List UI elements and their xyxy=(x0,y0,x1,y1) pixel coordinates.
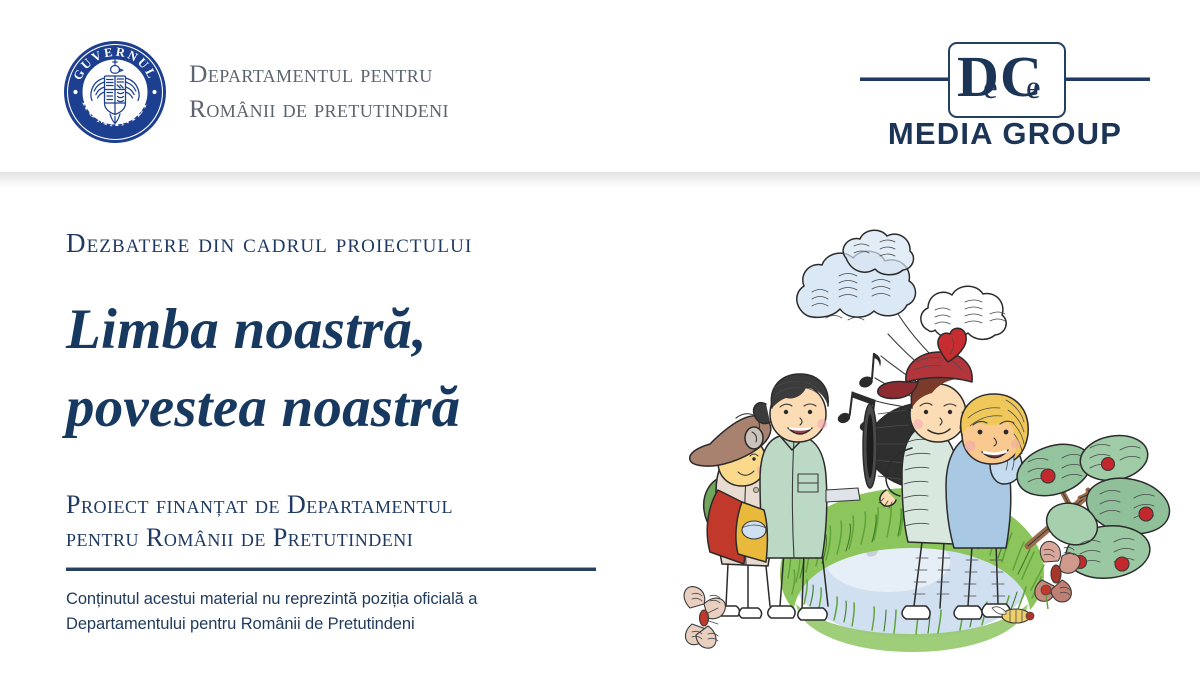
text-column: Dezbatere din cadrul proiectului Limba n… xyxy=(66,230,686,638)
funding-statement: Proiect finanțat de Departamentul pentru… xyxy=(66,489,686,555)
header-divider-shadow xyxy=(0,172,1200,188)
logo-monogram: D e C e xyxy=(950,44,1064,116)
page-title: Limba noastră, povestea noastră xyxy=(66,291,686,446)
disclaimer-line-1: Conținutul acestui material nu reprezint… xyxy=(66,587,686,613)
dece-media-group-logo: D e C e MEDIA GROUP xyxy=(860,38,1150,138)
eyebrow-label: Dezbatere din cadrul proiectului xyxy=(66,230,686,257)
romania-government-seal-icon: GUVERNUL ROMÂNIEI xyxy=(63,40,167,144)
funding-line-1: Proiect finanțat de Departamentul xyxy=(66,489,686,522)
disclaimer-text: Conținutul acestui material nu reprezint… xyxy=(66,587,686,638)
gov-name-line-1: Departamentul pentru xyxy=(189,57,449,92)
header-bar: GUVERNUL ROMÂNIEI xyxy=(0,0,1200,172)
funding-line-2: pentru Românii de Pretutindeni xyxy=(66,522,686,555)
title-line-1: Limba noastră, xyxy=(66,291,686,369)
cloud-shapes xyxy=(797,230,1006,339)
logo-rule-right xyxy=(1060,77,1150,81)
poster-canvas: GUVERNUL ROMÂNIEI xyxy=(0,0,1200,675)
title-line-2: povestea noastră xyxy=(66,369,686,447)
logo-rule-left xyxy=(860,77,950,81)
poster-body: Dezbatere din cadrul proiectului Limba n… xyxy=(0,172,1200,675)
horizontal-rule xyxy=(66,567,596,571)
monogram-letter-e2: e xyxy=(1026,72,1041,105)
children-with-megaphone-illustration: .ink { fill:none; stroke:#2b2b2b; stroke… xyxy=(676,222,1188,662)
logo-monogram-box: D e C e xyxy=(948,42,1066,118)
government-logo-lockup: GUVERNUL ROMÂNIEI xyxy=(63,40,449,144)
monogram-letter-e1: e xyxy=(983,72,998,105)
gov-name-line-2: Românii de pretutindeni xyxy=(189,92,449,127)
disclaimer-line-2: Departamentului pentru Românii de Pretut… xyxy=(66,612,686,638)
government-department-name: Departamentul pentru Românii de pretutin… xyxy=(189,57,449,126)
logo-wordmark: MEDIA GROUP xyxy=(860,116,1150,152)
music-note xyxy=(858,353,881,389)
